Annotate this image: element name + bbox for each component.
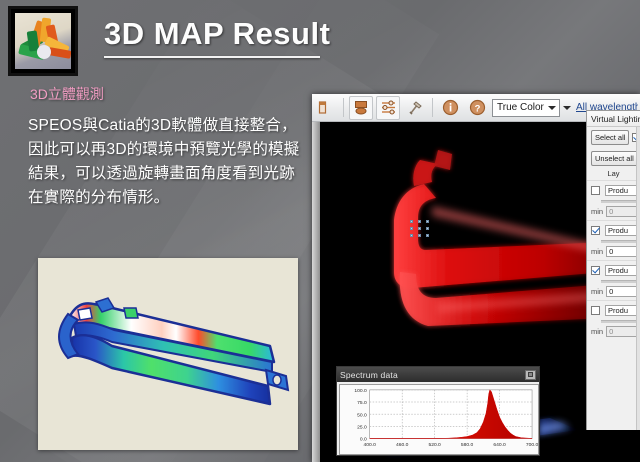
svg-text:520.0: 520.0 xyxy=(428,442,441,448)
unselect-all-row: Unselect all xyxy=(587,148,640,169)
svg-text:640.0: 640.0 xyxy=(493,442,506,448)
item-header: Produ xyxy=(591,305,640,316)
svg-text:0.0: 0.0 xyxy=(360,437,367,443)
item-name[interactable]: Produ xyxy=(605,225,640,236)
item-checkbox[interactable] xyxy=(591,306,600,315)
min-label: min xyxy=(591,207,603,216)
title-underline xyxy=(104,56,320,58)
item-slider[interactable] xyxy=(601,280,640,283)
svg-text:700.0: 700.0 xyxy=(526,442,538,448)
select-all-button[interactable]: Select all xyxy=(591,130,629,145)
list-item[interactable]: Produ min 0 xyxy=(587,260,640,300)
selection-handle[interactable] xyxy=(410,220,430,238)
logo-graphic xyxy=(15,13,71,69)
min-label: min xyxy=(591,247,603,256)
spectrum-chart: 0.025.050.075.0100.0400.0460.0520.0580.0… xyxy=(340,385,538,454)
item-min-row: min 0 xyxy=(591,246,640,257)
svg-text:25.0: 25.0 xyxy=(357,424,367,430)
page-title: 3D MAP Result xyxy=(104,16,330,52)
unselect-all-button[interactable]: Unselect all xyxy=(591,151,638,166)
select-all-row: Select all xyxy=(587,127,640,148)
info-icon[interactable] xyxy=(438,96,462,120)
slide-body-text: SPEOS與Catia的3D軟體做直接整合，因此可以再3D的環境中預覽光學的模擬… xyxy=(28,114,300,210)
color-mode-value: True Color xyxy=(497,102,544,113)
min-input[interactable]: 0 xyxy=(606,246,640,257)
spectrum-data-window[interactable]: Spectrum data 0.025.050.075.0100.0400.04… xyxy=(336,366,540,456)
item-header: Produ xyxy=(591,225,640,236)
svg-text:75.0: 75.0 xyxy=(357,400,367,406)
color-mode-dropdown[interactable]: True Color xyxy=(492,99,560,117)
spectrum-title-bar[interactable]: Spectrum data xyxy=(337,367,539,382)
item-slider[interactable] xyxy=(601,320,640,323)
item-name[interactable]: Produ xyxy=(605,185,640,196)
virtual-lighting-panel[interactable]: Virtual Lighting Select all Unselect all… xyxy=(586,110,640,430)
shape-select-icon[interactable] xyxy=(349,96,373,120)
item-min-row: min 0 xyxy=(591,326,640,337)
toolbar-separator xyxy=(343,98,344,117)
help-icon[interactable]: ? xyxy=(465,96,489,120)
item-min-row: min 0 xyxy=(591,286,640,297)
illuminance-map-image xyxy=(38,258,298,450)
panel-icon[interactable] xyxy=(314,96,338,120)
item-min-row: min 0 xyxy=(591,206,640,217)
slide-subtitle: 3D立體觀測 xyxy=(30,84,104,104)
chevron-down-icon xyxy=(548,106,556,110)
item-name[interactable]: Produ xyxy=(605,265,640,276)
svg-text:580.0: 580.0 xyxy=(461,442,474,448)
spectrum-plot-area: 0.025.050.075.0100.0400.0460.0520.0580.0… xyxy=(339,384,539,455)
list-item[interactable]: Produ min 0 xyxy=(587,220,640,260)
adjust-sliders-icon[interactable] xyxy=(376,96,400,120)
logo xyxy=(8,6,78,76)
spectrum-window-title: Spectrum data xyxy=(340,370,398,380)
svg-text:460.0: 460.0 xyxy=(396,442,409,448)
list-item[interactable]: Produ min 0 xyxy=(587,300,640,340)
min-input[interactable]: 0 xyxy=(606,326,640,337)
item-name[interactable]: Produ xyxy=(605,305,640,316)
item-header: Produ xyxy=(591,185,640,196)
item-checkbox[interactable] xyxy=(591,266,600,275)
svg-text:400.0: 400.0 xyxy=(364,442,377,448)
chevron-down-icon[interactable] xyxy=(563,106,571,110)
item-checkbox[interactable] xyxy=(591,226,600,235)
min-input[interactable]: 0 xyxy=(606,286,640,297)
measure-tool-icon[interactable] xyxy=(403,96,427,120)
list-item[interactable]: Produ min 0 xyxy=(587,180,640,220)
viewport-left-rail xyxy=(312,122,320,462)
item-slider[interactable] xyxy=(601,200,640,203)
min-label: min xyxy=(591,327,603,336)
svg-text:?: ? xyxy=(474,103,480,114)
svg-text:100.0: 100.0 xyxy=(354,388,367,394)
item-checkbox[interactable] xyxy=(591,186,600,195)
min-label: min xyxy=(591,287,603,296)
close-icon[interactable] xyxy=(525,370,536,380)
item-header: Produ xyxy=(591,265,640,276)
panel-scrollbar[interactable] xyxy=(636,127,640,430)
min-input[interactable]: 0 xyxy=(606,206,640,217)
item-slider[interactable] xyxy=(601,240,640,243)
layers-label: Lay xyxy=(587,169,640,180)
virtual-lighting-tab[interactable]: Virtual Lighting xyxy=(587,111,640,127)
illuminance-map-graphic xyxy=(38,258,298,450)
svg-text:50.0: 50.0 xyxy=(357,412,367,418)
slide-canvas: 3D MAP Result 3D立體觀測 SPEOS與Catia的3D軟體做直接… xyxy=(0,0,640,462)
toolbar-separator xyxy=(432,98,433,117)
